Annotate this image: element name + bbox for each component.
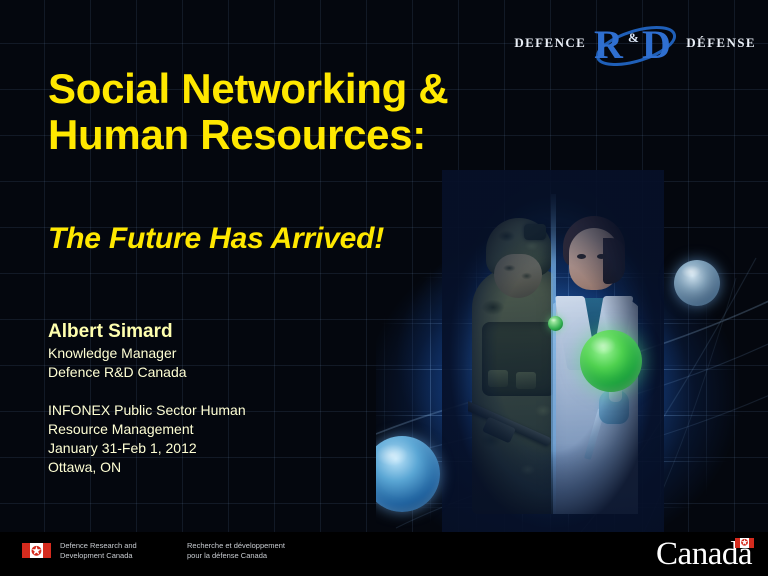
presenter-name: Albert Simard — [48, 320, 246, 344]
canadian-flag-icon: ✪ — [22, 543, 51, 558]
footer-english-line-2: Development Canada — [60, 551, 178, 561]
footer-french-line-2: pour la défense Canada — [187, 551, 285, 561]
molecule-orb — [580, 330, 642, 392]
footer-english-line-1: Defence Research and — [60, 541, 178, 551]
maple-leaf-icon: ✪ — [741, 539, 749, 548]
svg-text:&: & — [628, 30, 639, 45]
ship-orb — [674, 260, 720, 306]
title-line-1: Social Networking & — [48, 66, 568, 112]
title-slide-imagery — [376, 168, 768, 532]
drdc-logo-defence-label: DEFENCE — [514, 35, 586, 51]
footer-french-text: Recherche et développement pour la défen… — [187, 541, 285, 561]
footer-french-line-1: Recherche et développement — [187, 541, 285, 551]
presenter-block: Albert Simard Knowledge Manager Defence … — [48, 320, 246, 477]
title-line-2: Human Resources: — [48, 112, 568, 158]
maple-leaf-icon: ✪ — [31, 544, 42, 557]
drdc-logo-defense-label: DÉFENSE — [686, 35, 756, 51]
event-name-line-2: Resource Management — [48, 420, 246, 439]
slide-subtitle: The Future Has Arrived! — [48, 222, 384, 256]
presentation-slide: DEFENCE R D & DÉFENSE Social Networking … — [0, 0, 768, 576]
presenter-role: Knowledge Manager — [48, 344, 246, 363]
event-dates: January 31-Feb 1, 2012 — [48, 439, 246, 458]
slide-title: Social Networking & Human Resources: — [48, 66, 568, 158]
footer-english-text: Defence Research and Development Canada — [60, 541, 178, 561]
event-block: INFONEX Public Sector Human Resource Man… — [48, 401, 246, 477]
slide-footer: ✪ Defence Research and Development Canad… — [0, 532, 768, 576]
canada-wordmark-flag-icon: ✪ — [735, 538, 754, 548]
event-name-line-1: INFONEX Public Sector Human — [48, 401, 246, 420]
rd-swoosh-icon: R D & — [588, 20, 684, 66]
svg-text:D: D — [642, 22, 671, 66]
svg-text:R: R — [594, 22, 624, 66]
footer-drdc-signature: ✪ Defence Research and Development Canad… — [22, 541, 285, 561]
small-green-orb — [548, 316, 563, 331]
presenter-organization: Defence R&D Canada — [48, 363, 246, 382]
event-location: Ottawa, ON — [48, 458, 246, 477]
drdc-logo: DEFENCE R D & DÉFENSE — [514, 20, 756, 66]
